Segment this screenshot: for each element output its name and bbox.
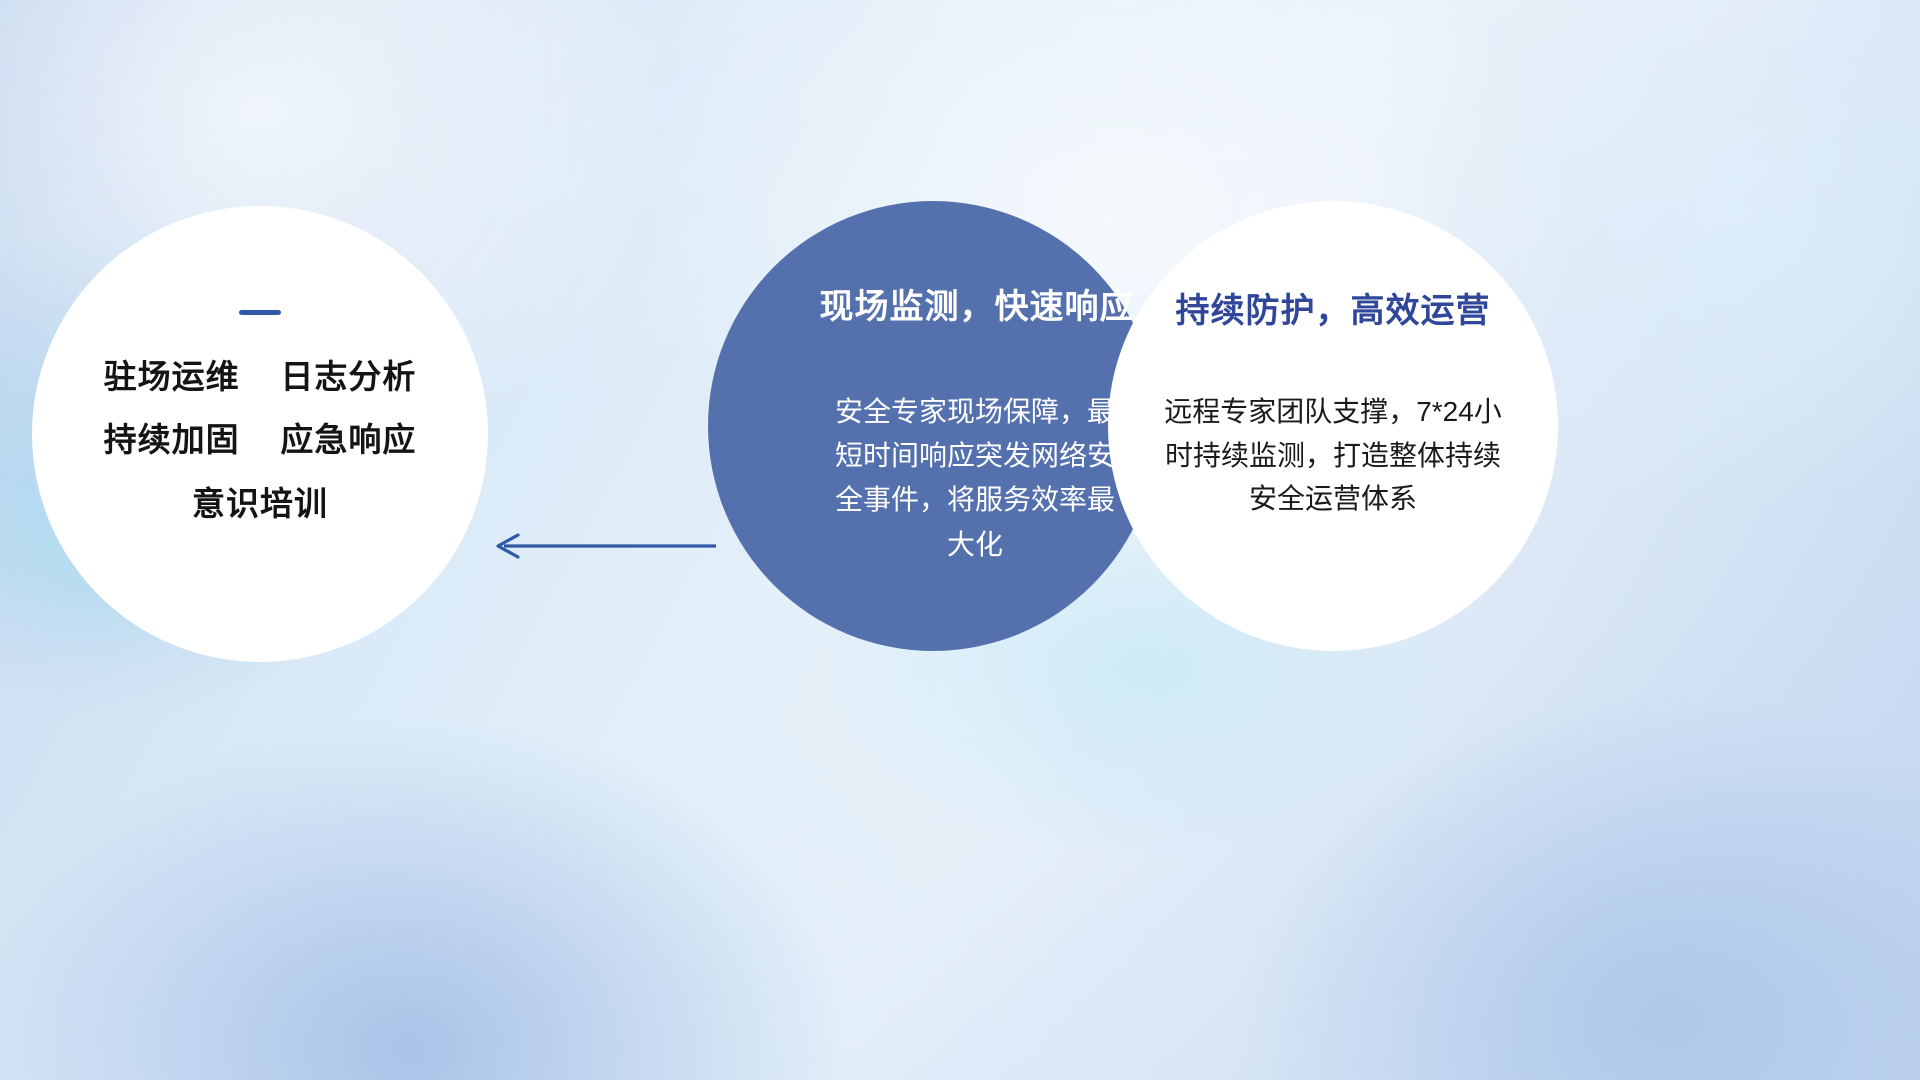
middle-circle-title: 现场监测，快速响应 (820, 279, 1135, 328)
left-circle-line-3: 意识培训 (192, 486, 328, 522)
right-circle-title: 持续防护，高效运营 (1176, 283, 1491, 332)
left-circle-line-1: 驻场运维 日志分析 (104, 359, 417, 395)
flow-arrow-left-icon (488, 524, 718, 568)
slide-canvas: 驻场运维 日志分析 持续加固 应急响应 意识培训 现场监测，快速响应 安全专家现… (0, 0, 1920, 1080)
middle-circle-body: 安全专家现场保障，最短时间响应突发网络安全事件，将服务效率最大化 (830, 390, 1120, 567)
middle-circle-content: 现场监测，快速响应 安全专家现场保障，最短时间响应突发网络安全事件，将服务效率最… (754, 279, 1166, 567)
accent-dash-divider (239, 310, 281, 315)
left-circle-content: 驻场运维 日志分析 持续加固 应急响应 意识培训 (32, 206, 488, 662)
capability-circle-left[interactable]: 驻场运维 日志分析 持续加固 应急响应 意识培训 (32, 206, 488, 662)
right-circle-body: 远程专家团队支撑，7*24小时持续监测，打造整体持续安全运营体系 (1153, 390, 1513, 521)
left-circle-line-2: 持续加固 应急响应 (104, 422, 417, 458)
right-circle-content: 持续防护，高效运营 远程专家团队支撑，7*24小时持续监测，打造整体持续安全运营… (1108, 283, 1558, 521)
capability-circle-middle[interactable]: 现场监测，快速响应 安全专家现场保障，最短时间响应突发网络安全事件，将服务效率最… (708, 201, 1158, 651)
capability-circle-right[interactable]: 持续防护，高效运营 远程专家团队支撑，7*24小时持续监测，打造整体持续安全运营… (1108, 201, 1558, 651)
